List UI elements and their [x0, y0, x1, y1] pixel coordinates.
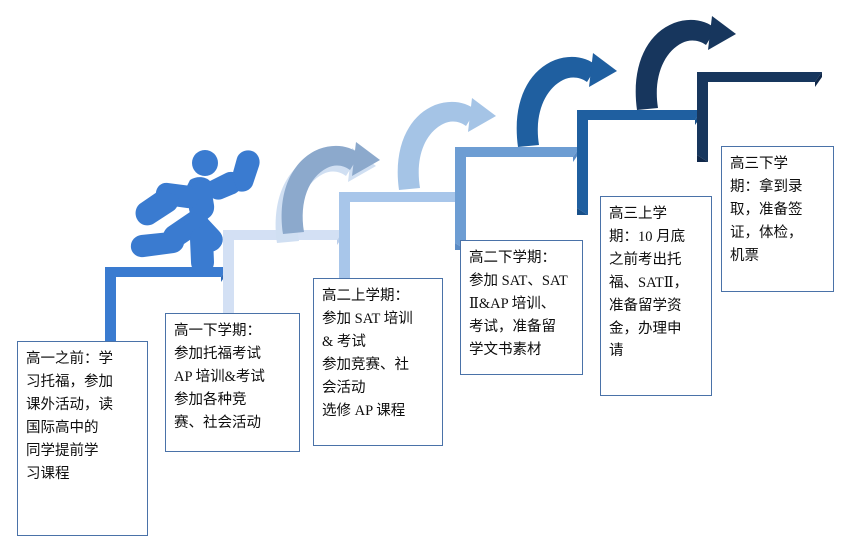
- stage-6-text: 高三下学 期：拿到录 取，准备签 证，体检， 机票: [730, 153, 826, 268]
- stage-4-box[interactable]: 高二下学期： 参加 SAT、SAT Ⅱ&AP 培训、 考试，准备留 学文书素材: [460, 240, 583, 375]
- stage-2-text: 高一下学期： 参加托福考试 AP 培训&考试 参加各种竞 赛、社会活动: [174, 320, 292, 435]
- stage-4-text: 高二下学期： 参加 SAT、SAT Ⅱ&AP 培训、 考试，准备留 学文书素材: [469, 247, 575, 362]
- stage-5-box[interactable]: 高三上学 期：10 月底 之前考出托 福、SATⅡ， 准备留学资 金，办理申 请: [600, 196, 712, 396]
- stage-3-text: 高二上学期： 参加 SAT 培训 & 考试 参加竞赛、社 会活动 选修 AP 课…: [322, 285, 435, 422]
- running-person-icon: [131, 150, 260, 274]
- stage-1-box[interactable]: 高一之前：学 习托福，参加 课外活动，读 国际高中的 同学提前学 习课程: [17, 341, 148, 536]
- arrow-4: [517, 53, 617, 147]
- stage-3-box[interactable]: 高二上学期： 参加 SAT 培训 & 考试 参加竞赛、社 会活动 选修 AP 课…: [313, 278, 443, 446]
- step-4: [455, 147, 580, 250]
- arrow-3: [398, 98, 496, 190]
- stage-1-text: 高一之前：学 习托福，参加 课外活动，读 国际高中的 同学提前学 习课程: [26, 348, 140, 485]
- stage-5-text: 高三上学 期：10 月底 之前考出托 福、SATⅡ， 准备留学资 金，办理申 请: [609, 203, 704, 363]
- arrow-5: [636, 16, 736, 110]
- diagram-canvas: 高一之前：学 习托福，参加 课外活动，读 国际高中的 同学提前学 习课程 高一下…: [0, 0, 853, 547]
- stage-2-box[interactable]: 高一下学期： 参加托福考试 AP 培训&考试 参加各种竞 赛、社会活动: [165, 313, 300, 452]
- stage-6-box[interactable]: 高三下学 期：拿到录 取，准备签 证，体检， 机票: [721, 146, 834, 292]
